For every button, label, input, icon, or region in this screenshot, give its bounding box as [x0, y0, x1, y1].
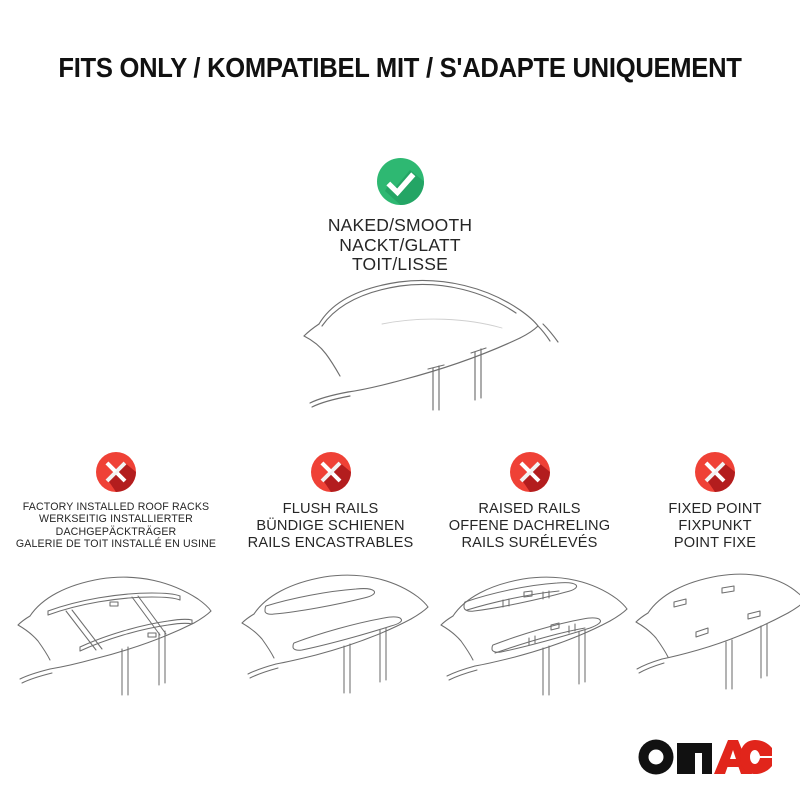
omac-logo [636, 736, 772, 778]
label-line-3: DACHGEPÄCKTRÄGER [0, 526, 232, 538]
incompatible-item-flush-rails: FLUSH RAILS BÜNDIGE SCHIENEN RAILS ENCAS… [232, 452, 429, 708]
label-line-3: RAILS SURÉLEVÉS [429, 535, 630, 552]
label-line-3: POINT FIXE [630, 535, 800, 552]
incompatible-label-factory-roof-racks: FACTORY INSTALLED ROOF RACKS WERKSEITIG … [0, 501, 232, 551]
label-line-1: RAISED RAILS [429, 501, 630, 518]
compatible-label-line-1: NAKED/SMOOTH [0, 216, 800, 236]
incompatible-item-raised-rails: RAISED RAILS OFFENE DACHRELING RAILS SUR… [429, 452, 630, 708]
compatible-section: NAKED/SMOOTH NACKT/GLATT TOIT/LISSE [0, 150, 800, 275]
page-title: FITS ONLY / KOMPATIBEL MIT / S'ADAPTE UN… [28, 52, 772, 84]
label-line-1: FACTORY INSTALLED ROOF RACKS [0, 501, 232, 513]
compatible-label-line-2: NACKT/GLATT [0, 236, 800, 256]
label-line-1: FLUSH RAILS [232, 501, 429, 518]
label-line-4: GALERIE DE TOIT INSTALLÉ EN USINE [0, 538, 232, 550]
smooth-roof-illustration [262, 272, 562, 412]
cross-circle-icon [311, 452, 351, 492]
incompatible-item-factory-roof-racks: FACTORY INSTALLED ROOF RACKS WERKSEITIG … [0, 452, 232, 705]
compatible-label: NAKED/SMOOTH NACKT/GLATT TOIT/LISSE [0, 216, 800, 275]
label-line-2: FIXPUNKT [630, 518, 800, 535]
cross-circle-icon [695, 452, 735, 492]
label-line-2: BÜNDIGE SCHIENEN [232, 518, 429, 535]
incompatible-item-fixed-point: FIXED POINT FIXPUNKT POINT FIXE [630, 452, 800, 708]
label-line-2: WERKSEITIG INSTALLIERTER [0, 513, 232, 525]
cross-circle-icon [510, 452, 550, 492]
fixed-point-illustration [630, 558, 800, 708]
incompatible-label-raised-rails: RAISED RAILS OFFENE DACHRELING RAILS SUR… [429, 501, 630, 552]
raised-rails-illustration [429, 558, 630, 708]
label-line-3: RAILS ENCASTRABLES [232, 535, 429, 552]
label-line-1: FIXED POINT [630, 501, 800, 518]
incompatible-section: FACTORY INSTALLED ROOF RACKS WERKSEITIG … [0, 452, 800, 712]
check-circle-icon [377, 158, 424, 205]
incompatible-label-fixed-point: FIXED POINT FIXPUNKT POINT FIXE [630, 501, 800, 552]
cross-circle-icon [96, 452, 136, 492]
flush-rails-illustration [232, 558, 429, 708]
incompatible-label-flush-rails: FLUSH RAILS BÜNDIGE SCHIENEN RAILS ENCAS… [232, 501, 429, 552]
label-line-2: OFFENE DACHRELING [429, 518, 630, 535]
factory-roof-rack-illustration [0, 555, 232, 705]
